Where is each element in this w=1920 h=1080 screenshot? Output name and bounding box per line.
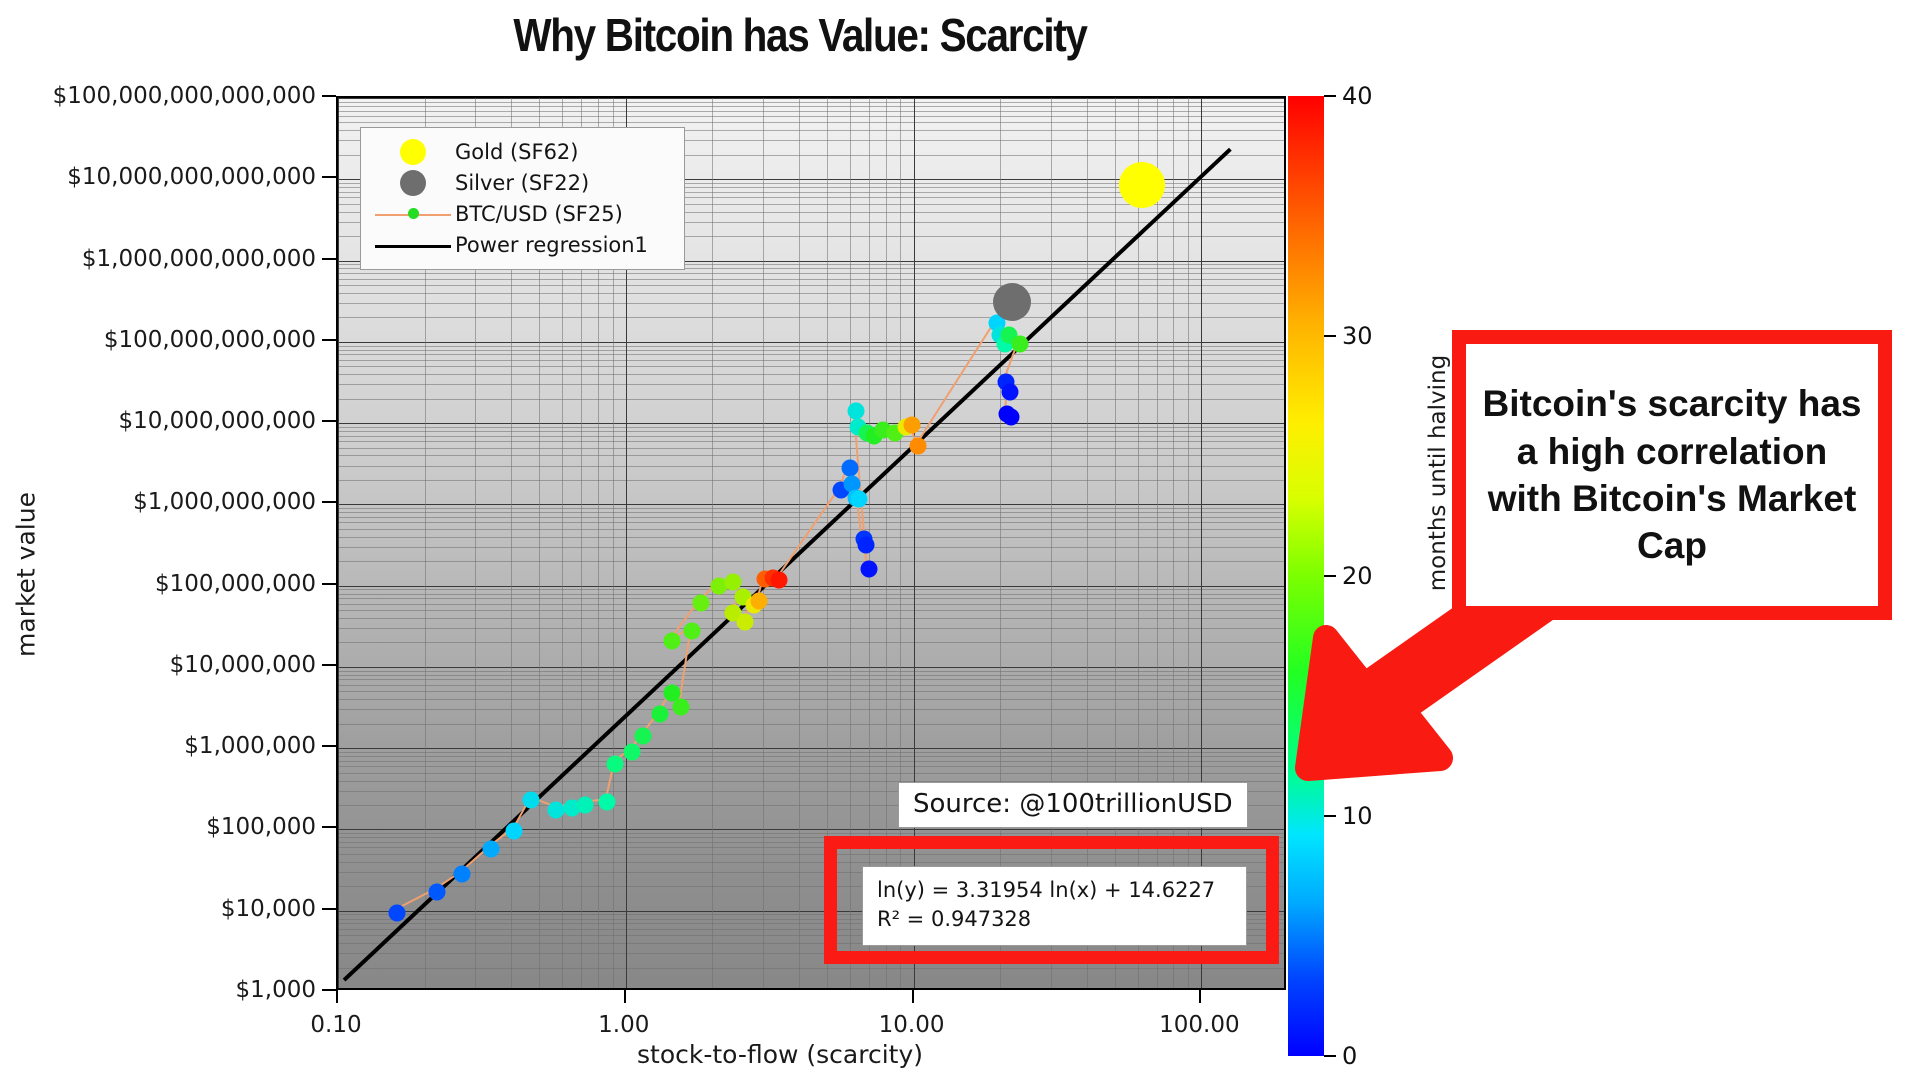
y-tick-label: $1,000,000 xyxy=(184,733,316,759)
data-point-btc xyxy=(635,728,652,745)
data-point-btc xyxy=(454,866,471,883)
legend-dot-icon xyxy=(408,208,419,219)
data-point-btc xyxy=(860,561,877,578)
callout-box: Bitcoin's scarcity has a high correlatio… xyxy=(1452,330,1892,620)
data-point-btc xyxy=(1002,408,1019,425)
legend-marker-icon xyxy=(371,137,455,167)
y-tick-label: $10,000,000,000,000 xyxy=(67,164,316,190)
page-title: Why Bitcoin has Value: Scarcity xyxy=(395,8,1205,62)
callout-text: Bitcoin's scarcity has a high correlatio… xyxy=(1480,380,1864,569)
legend-label: BTC/USD (SF25) xyxy=(455,202,623,226)
y-tick-mark xyxy=(322,258,336,260)
legend-marker-icon xyxy=(371,230,455,260)
data-point-btc xyxy=(482,840,499,857)
y-tick-label: $100,000,000 xyxy=(155,571,316,597)
data-point-btc xyxy=(770,571,787,588)
legend-dot-icon xyxy=(400,170,426,196)
y-tick-label: $1,000,000,000,000 xyxy=(82,246,316,272)
y-tick-mark xyxy=(322,583,336,585)
x-tick-mark xyxy=(336,990,338,1003)
y-tick-mark xyxy=(322,989,336,991)
data-point-btc xyxy=(576,796,593,813)
y-tick-label: $10,000 xyxy=(221,896,316,922)
data-point-btc xyxy=(607,755,624,772)
colorbar-tick-label: 40 xyxy=(1342,82,1373,110)
data-point-btc xyxy=(523,792,540,809)
y-tick-mark xyxy=(322,420,336,422)
y-tick-label: $1,000,000,000 xyxy=(133,489,316,515)
y-tick-label: $100,000,000,000,000 xyxy=(53,83,316,109)
data-point-btc xyxy=(910,438,927,455)
legend[interactable]: Gold (SF62)Silver (SF22)BTC/USD (SF25)Po… xyxy=(360,127,685,270)
colorbar-tick-label: 20 xyxy=(1342,562,1373,590)
y-tick-mark xyxy=(322,95,336,97)
data-point-btc xyxy=(724,574,741,591)
colorbar-tick-label: 0 xyxy=(1342,1042,1357,1070)
x-tick-mark xyxy=(624,990,626,1003)
y-tick-mark xyxy=(322,664,336,666)
legend-label: Gold (SF62) xyxy=(455,140,578,164)
y-tick-label: $100,000,000,000 xyxy=(104,327,316,353)
colorbar-tick-mark xyxy=(1324,1055,1336,1057)
y-tick-mark xyxy=(322,339,336,341)
data-point-btc xyxy=(850,491,867,508)
colorbar-tick-mark xyxy=(1324,335,1336,337)
data-point-btc xyxy=(506,822,523,839)
x-tick-label: 10.00 xyxy=(879,1012,945,1038)
x-tick-label: 1.00 xyxy=(598,1012,649,1038)
colorbar-label: months until halving xyxy=(1425,323,1451,623)
data-point-btc xyxy=(750,593,767,610)
equation-text: ln(y) = 3.31954 ln(x) + 14.6227 xyxy=(877,876,1234,905)
y-axis-ticks: $100,000,000,000,000$10,000,000,000,000$… xyxy=(0,96,326,990)
source-note: Source: @100trillionUSD xyxy=(898,782,1248,828)
y-tick-label: $10,000,000 xyxy=(170,652,316,678)
legend-label: Silver (SF22) xyxy=(455,171,589,195)
x-tick-mark xyxy=(912,990,914,1003)
data-point-silver xyxy=(993,283,1031,321)
data-point-btc xyxy=(692,594,709,611)
data-point-btc xyxy=(684,622,701,639)
data-point-btc xyxy=(904,416,921,433)
colorbar-tick-mark xyxy=(1324,575,1336,577)
legend-item-2[interactable]: BTC/USD (SF25) xyxy=(371,198,674,229)
colorbar-tick-label: 30 xyxy=(1342,322,1373,350)
data-point-btc xyxy=(1001,384,1018,401)
y-tick-mark xyxy=(322,176,336,178)
data-point-btc xyxy=(623,743,640,760)
y-tick-mark xyxy=(322,501,336,503)
legend-dot-icon xyxy=(400,139,426,165)
legend-label: Power regression1 xyxy=(455,233,648,257)
x-tick-mark xyxy=(1199,990,1201,1003)
data-point-btc xyxy=(841,460,858,477)
data-point-btc xyxy=(847,403,864,420)
data-point-btc xyxy=(388,904,405,921)
y-tick-label: $10,000,000,000 xyxy=(118,408,316,434)
legend-marker-icon xyxy=(371,168,455,198)
y-tick-label: $1,000 xyxy=(236,977,316,1003)
y-tick-mark xyxy=(322,826,336,828)
x-axis-ticks: 0.101.0010.00100.00 xyxy=(336,990,1286,1060)
data-point-btc xyxy=(598,794,615,811)
data-point-btc xyxy=(737,613,754,630)
y-tick-mark xyxy=(322,745,336,747)
colorbar-tick-mark xyxy=(1324,815,1336,817)
x-tick-label: 0.10 xyxy=(310,1012,361,1038)
data-point-btc xyxy=(547,801,564,818)
y-tick-label: $100,000 xyxy=(206,814,316,840)
data-point-btc xyxy=(664,632,681,649)
data-point-btc xyxy=(672,699,689,716)
regression-equation-box: ln(y) = 3.31954 ln(x) + 14.6227 R² = 0.9… xyxy=(862,866,1247,946)
data-point-btc xyxy=(858,536,875,553)
legend-item-0[interactable]: Gold (SF62) xyxy=(371,136,674,167)
colorbar-tick-label: 10 xyxy=(1342,802,1373,830)
legend-line-icon xyxy=(375,245,451,248)
colorbar-tick-mark xyxy=(1324,95,1336,97)
r-squared-text: R² = 0.947328 xyxy=(877,905,1234,934)
x-tick-label: 100.00 xyxy=(1159,1012,1239,1038)
legend-item-1[interactable]: Silver (SF22) xyxy=(371,167,674,198)
data-point-btc xyxy=(1012,335,1029,352)
data-point-btc xyxy=(652,706,669,723)
legend-marker-icon xyxy=(371,199,455,229)
data-point-gold xyxy=(1119,162,1165,208)
colorbar[interactable] xyxy=(1288,96,1324,1056)
y-tick-mark xyxy=(322,908,336,910)
data-point-btc xyxy=(428,883,445,900)
legend-item-3[interactable]: Power regression1 xyxy=(371,229,674,260)
